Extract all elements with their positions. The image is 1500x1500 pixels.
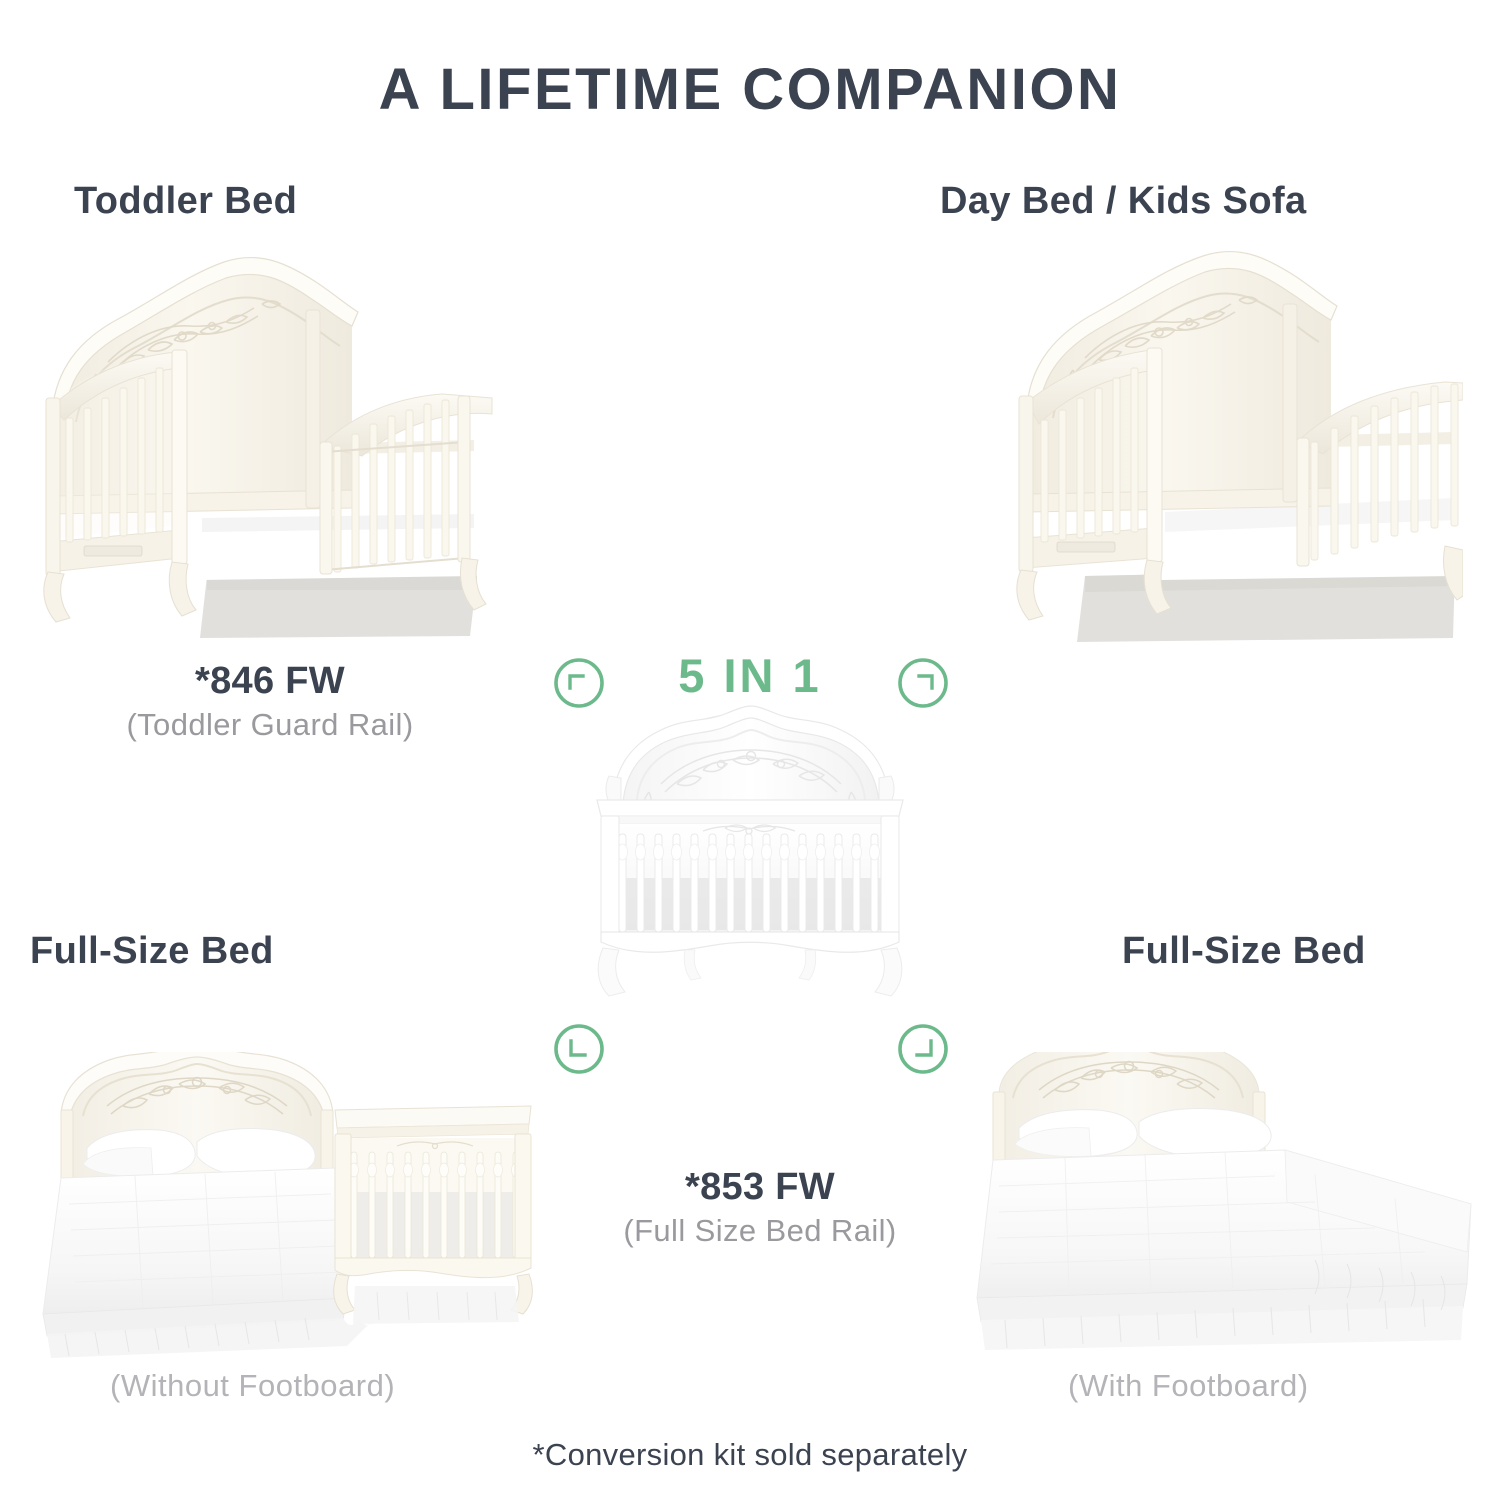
day-bed-illustration — [985, 246, 1463, 646]
heading-full-size-bed-right: Full-Size Bed — [1122, 930, 1366, 973]
note-with-footboard: (With Footboard) — [1068, 1368, 1309, 1404]
note-without-footboard: (Without Footboard) — [110, 1368, 395, 1404]
corner-bottom-left-icon — [552, 1022, 606, 1076]
page-title: A LIFETIME COMPANION — [0, 56, 1500, 123]
heading-day-bed: Day Bed / Kids Sofa — [940, 180, 1307, 223]
caption-code-853: *853 FW — [510, 1168, 1010, 1208]
convertible-crib-illustration — [585, 700, 915, 1010]
heading-toddler-bed: Toddler Bed — [74, 180, 297, 223]
heading-full-size-bed-left: Full-Size Bed — [30, 930, 274, 973]
infographic-page: A LIFETIME COMPANION Toddler Bed Day Bed… — [0, 0, 1500, 1500]
toddler-bed-illustration — [22, 246, 502, 646]
full-size-bed-without-footboard-illustration — [25, 1052, 545, 1362]
full-size-bed-with-footboard-illustration — [955, 1052, 1475, 1352]
caption-toddler-guard-rail: *846 FW (Toddler Guard Rail) — [30, 662, 510, 748]
corner-top-left-icon — [552, 656, 606, 710]
caption-full-size-bed-rail: *853 FW (Full Size Bed Rail) — [510, 1168, 1010, 1254]
corner-bottom-right-icon — [896, 1022, 950, 1076]
caption-code-846: *846 FW — [30, 662, 510, 702]
caption-sub-853: (Full Size Bed Rail) — [510, 1208, 1010, 1255]
footnote-conversion-kit: *Conversion kit sold separately — [0, 1437, 1500, 1473]
caption-sub-846: (Toddler Guard Rail) — [30, 702, 510, 749]
corner-top-right-icon — [896, 656, 950, 710]
